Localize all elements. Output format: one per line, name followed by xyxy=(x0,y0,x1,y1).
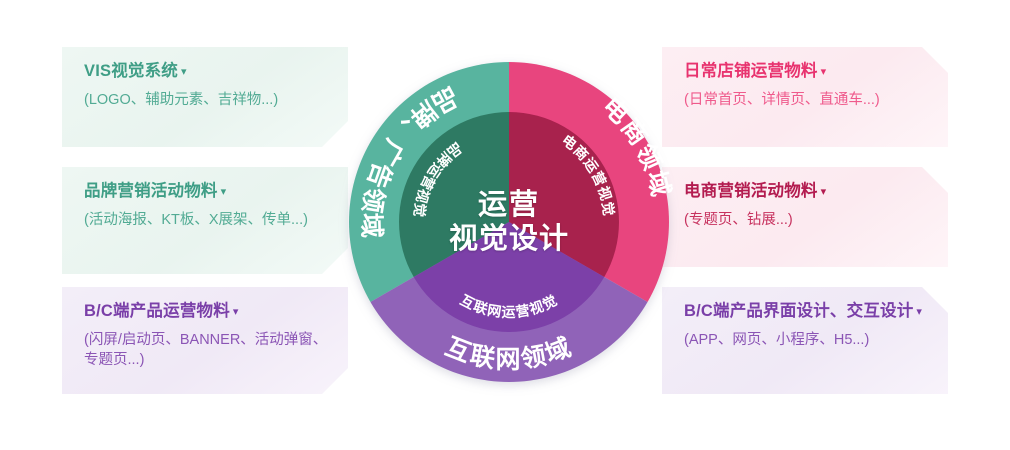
card-subtitle: (活动海报、KT板、X展架、传单...) xyxy=(84,210,328,231)
chevron-down-icon[interactable]: ▾ xyxy=(221,185,227,200)
chevron-down-icon[interactable]: ▾ xyxy=(821,185,827,200)
card-subtitle: (日常首页、详情页、直通车...) xyxy=(684,90,928,111)
card-title: 品牌营销活动物料▾ xyxy=(84,181,328,203)
card-title: 电商营销活动物料▾ xyxy=(684,181,928,203)
card-title-text: B/C端产品界面设计、交互设计 xyxy=(684,302,913,320)
card-daily-shop-operation-materials[interactable]: 日常店铺运营物料▾ (日常首页、详情页、直通车...) xyxy=(662,47,948,147)
card-title-text: 电商营销活动物料 xyxy=(684,182,818,200)
operation-visual-design-donut-chart: 品牌、广告领域 电商领域 互联网领域 品牌运营视觉 电商运营视觉 互联网运营视觉… xyxy=(325,38,693,406)
card-subtitle: (LOGO、辅助元素、吉祥物...) xyxy=(84,90,328,111)
card-bc-product-ui-interaction-design[interactable]: B/C端产品界面设计、交互设计▾ (APP、网页、小程序、H5...) xyxy=(662,287,948,394)
card-vis-visual-system[interactable]: VIS视觉系统▾ (LOGO、辅助元素、吉祥物...) xyxy=(62,47,348,147)
card-title: B/C端产品运营物料▾ xyxy=(84,301,328,323)
chevron-down-icon[interactable]: ▾ xyxy=(916,305,922,320)
card-title-text: B/C端产品运营物料 xyxy=(84,302,230,320)
chevron-down-icon[interactable]: ▾ xyxy=(233,305,239,320)
card-subtitle: (APP、网页、小程序、H5...) xyxy=(684,330,928,351)
card-title-text: 日常店铺运营物料 xyxy=(684,62,818,80)
chevron-down-icon[interactable]: ▾ xyxy=(181,65,187,80)
card-brand-marketing-materials[interactable]: 品牌营销活动物料▾ (活动海报、KT板、X展架、传单...) xyxy=(62,167,348,274)
card-title: 日常店铺运营物料▾ xyxy=(684,61,928,83)
card-title: VIS视觉系统▾ xyxy=(84,61,328,83)
card-bc-product-operation-materials[interactable]: B/C端产品运营物料▾ (闪屏/启动页、BANNER、活动弹窗、专题页...) xyxy=(62,287,348,394)
card-subtitle: (闪屏/启动页、BANNER、活动弹窗、专题页...) xyxy=(84,330,328,371)
card-title-text: 品牌营销活动物料 xyxy=(84,182,218,200)
chevron-down-icon[interactable]: ▾ xyxy=(821,65,827,80)
card-subtitle: (专题页、钻展...) xyxy=(684,210,928,231)
infographic-canvas: VIS视觉系统▾ (LOGO、辅助元素、吉祥物...) 品牌营销活动物料▾ (活… xyxy=(0,0,1010,450)
card-title-text: VIS视觉系统 xyxy=(84,62,178,80)
card-title: B/C端产品界面设计、交互设计▾ xyxy=(684,301,928,323)
card-ecommerce-marketing-materials[interactable]: 电商营销活动物料▾ (专题页、钻展...) xyxy=(662,167,948,267)
